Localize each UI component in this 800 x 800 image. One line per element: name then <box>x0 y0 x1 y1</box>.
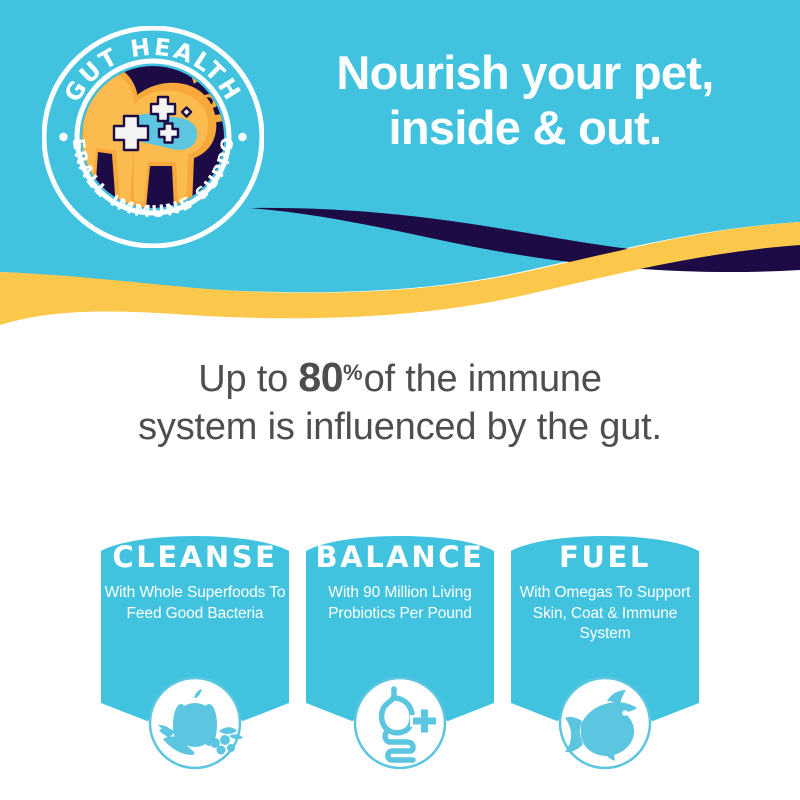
benefit-badge-cleanse[interactable]: CLEANSE With Whole Superfoods To Feed Go… <box>97 525 293 765</box>
hero-headline: Nourish your pet, inside & out. <box>290 46 760 156</box>
fish-icon <box>555 673 655 773</box>
gut-health-seal-logo: GUT HEALTH OVERALL IMMUNE SUPPORT <box>42 26 264 248</box>
headline-line-1: Nourish your pet, <box>290 46 760 101</box>
stat-line-2: system is influenced by the gut. <box>60 404 740 452</box>
stat-line-1: Up to 80%of the immune <box>60 352 740 404</box>
stat-number: 80 <box>298 354 343 400</box>
seal-dot-left <box>59 133 67 141</box>
stat-suffix: of the immune <box>364 358 602 400</box>
benefit-badge-balance[interactable]: BALANCE With 90 Million Living Probiotic… <box>302 525 498 765</box>
pumpkin-vegetables-icon <box>145 673 245 773</box>
stat-percent-sign: % <box>343 360 363 385</box>
seal-dot-right <box>238 133 246 141</box>
stat-prefix: Up to <box>198 358 298 400</box>
benefit-badges-row: CLEANSE With Whole Superfoods To Feed Go… <box>0 525 800 770</box>
stat-statement: Up to 80%of the immune system is influen… <box>60 352 740 452</box>
headline-line-2: inside & out. <box>290 101 760 156</box>
hero-section: GUT HEALTH OVERALL IMMUNE SUPPORT Nouris… <box>0 0 800 340</box>
stomach-gut-health-icon <box>350 673 450 773</box>
gut-health-infographic: GUT HEALTH OVERALL IMMUNE SUPPORT Nouris… <box>0 0 800 800</box>
benefit-badge-fuel[interactable]: FUEL With Omegas To Support Skin, Coat &… <box>507 525 703 765</box>
